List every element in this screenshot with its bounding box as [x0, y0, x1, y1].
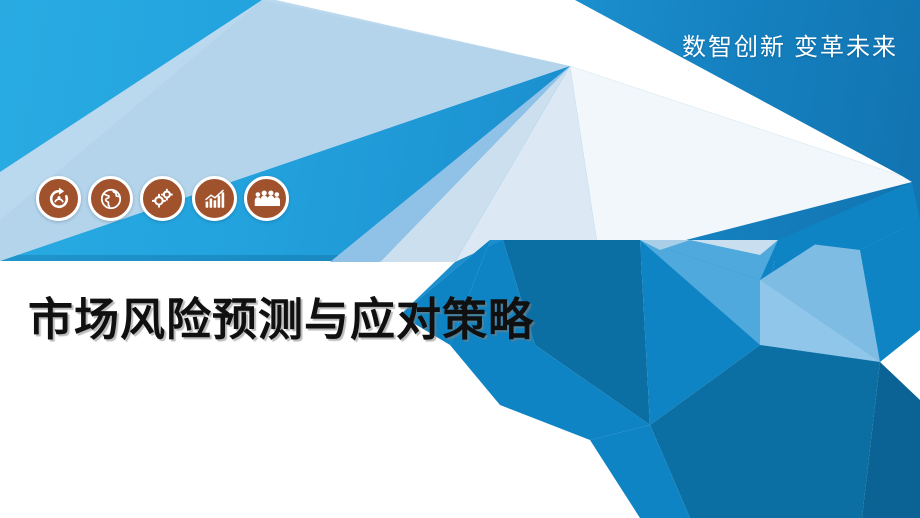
people-group-icon[interactable] [244, 176, 289, 221]
icon-row [36, 176, 289, 221]
globe-icon[interactable] [88, 176, 133, 221]
bar-chart-icon[interactable] [192, 176, 237, 221]
page-title: 市场风险预测与应对策略 [28, 296, 534, 343]
gears-icon[interactable] [140, 176, 185, 221]
refresh-arrow-icon[interactable] [36, 176, 81, 221]
slide-canvas: 数智创新 变革未来 [0, 0, 920, 518]
low-poly-ribbon-graphic [0, 0, 920, 518]
tagline: 数智创新 变革未来 [682, 27, 898, 62]
